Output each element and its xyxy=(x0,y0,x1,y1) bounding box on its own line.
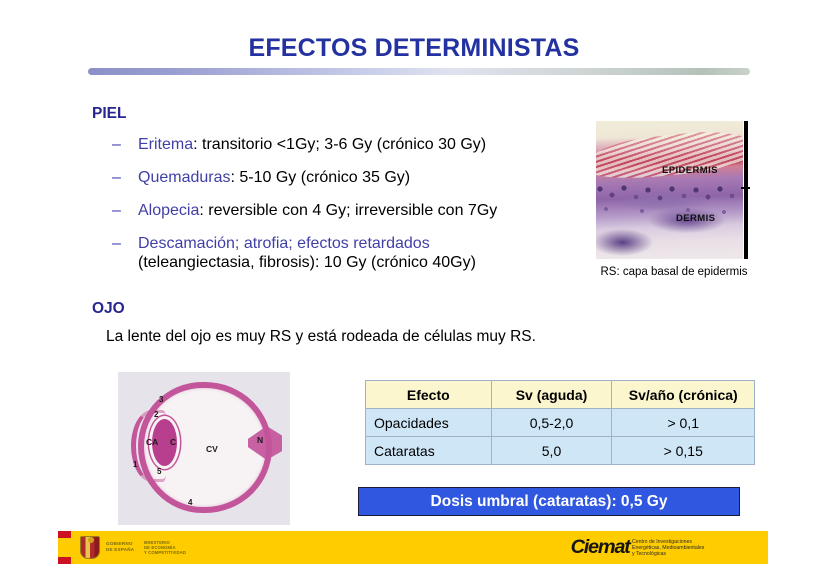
eye-callout-number-4: 4 xyxy=(188,498,192,507)
cell-efecto: Cataratas xyxy=(366,437,492,465)
cell-sv-cronica: > 0,15 xyxy=(612,437,755,465)
ministerio-label: MINISTERIO DE ECONOMÍA Y COMPETITIVIDAD xyxy=(144,540,186,556)
column-header-sv-aguda: Sv (aguda) xyxy=(491,381,612,409)
eye-callout-number-1: 1 xyxy=(133,460,137,469)
spain-flag-icon xyxy=(58,531,71,564)
threshold-dose-callout: Dosis umbral (cataratas): 0,5 Gy xyxy=(358,487,740,516)
gobierno-line-2: DE ESPAÑA xyxy=(106,547,134,553)
skin-histology-image xyxy=(596,121,743,259)
ciemat-subtitle: Centro de Investigaciones Energéticas, M… xyxy=(632,539,712,558)
skin-label-dermis: DERMIS xyxy=(676,213,715,224)
table-body: Opacidades 0,5-2,0 > 0,1 Cataratas 5,0 >… xyxy=(366,409,755,465)
eye-label-optic-nerve: N xyxy=(257,435,263,445)
table-row: Opacidades 0,5-2,0 > 0,1 xyxy=(366,409,755,437)
spain-coat-of-arms-icon xyxy=(80,536,100,559)
ciemat-logo-wordmark: Ciemat xyxy=(570,537,629,559)
table-header: Efecto Sv (aguda) Sv/año (crónica) xyxy=(366,381,755,409)
list-item: –Alopecia: reversible con 4 Gy; irrevers… xyxy=(110,201,590,220)
gobierno-de-espana-label: GOBIERNO DE ESPAÑA xyxy=(106,541,134,552)
eye-label-vitreous: CV xyxy=(206,444,218,454)
list-item: –Descamación; atrofia; efectos retardado… xyxy=(110,234,590,272)
footer-bar: GOBIERNO DE ESPAÑA MINISTERIO DE ECONOMÍ… xyxy=(58,531,768,564)
eye-effects-table: Efecto Sv (aguda) Sv/año (crónica) Opaci… xyxy=(365,380,755,465)
skin-scale-tick xyxy=(741,187,750,189)
bullet-term: Eritema xyxy=(138,136,193,153)
skin-effects-list: –Eritema: transitorio <1Gy; 3-6 Gy (crón… xyxy=(110,135,590,286)
section-heading-piel: PIEL xyxy=(92,105,126,123)
eye-callout-number-5: 5 xyxy=(157,467,161,476)
bullet-detail: (teleangiectasia, fibrosis): 10 Gy (crón… xyxy=(138,254,476,271)
skin-label-epidermis: EPIDERMIS xyxy=(662,165,718,176)
section-heading-ojo: OJO xyxy=(92,300,125,318)
eye-description-paragraph: La lente del ojo es muy RS y está rodead… xyxy=(106,328,536,346)
table-row: Cataratas 5,0 > 0,15 xyxy=(366,437,755,465)
skin-figure-caption: RS: capa basal de epidermis xyxy=(585,266,763,278)
bullet-dash-icon: – xyxy=(112,234,121,253)
bullet-term: Descamación; atrofia; efectos retardados xyxy=(138,234,590,253)
eye-label-anterior-chamber: CA xyxy=(146,437,158,447)
eye-label-lens: C xyxy=(170,437,176,447)
eye-callout-number-3: 3 xyxy=(159,395,163,404)
column-header-sv-cronica: Sv/año (crónica) xyxy=(612,381,755,409)
cell-sv-cronica: > 0,1 xyxy=(612,409,755,437)
gobierno-line-1: GOBIERNO xyxy=(106,541,134,547)
list-item: –Quemaduras: 5-10 Gy (crónico 35 Gy) xyxy=(110,168,590,187)
bullet-dash-icon: – xyxy=(112,201,121,220)
bullet-term: Alopecia xyxy=(138,202,199,219)
title-divider-rule xyxy=(88,68,750,75)
bullet-dash-icon: – xyxy=(112,168,121,187)
page-title: EFECTOS DETERMINISTAS xyxy=(0,34,828,63)
list-item: –Eritema: transitorio <1Gy; 3-6 Gy (crón… xyxy=(110,135,590,154)
skin-scale-bar xyxy=(744,121,748,259)
column-header-efecto: Efecto xyxy=(366,381,492,409)
table-header-row: Efecto Sv (aguda) Sv/año (crónica) xyxy=(366,381,755,409)
skin-histology-figure: EPIDERMIS DERMIS xyxy=(596,121,750,259)
bullet-term: Quemaduras xyxy=(138,169,231,186)
bullet-detail: : transitorio <1Gy; 3-6 Gy (crónico 30 G… xyxy=(193,136,486,153)
cell-sv-aguda: 0,5-2,0 xyxy=(491,409,612,437)
bullet-detail: : reversible con 4 Gy; irreversible con … xyxy=(199,202,497,219)
cell-efecto: Opacidades xyxy=(366,409,492,437)
eye-callout-number-2: 2 xyxy=(154,410,158,419)
eye-anatomy-figure: CA C CV N 1 2 3 4 5 xyxy=(118,372,290,525)
cell-sv-aguda: 5,0 xyxy=(491,437,612,465)
ciemat-sub-line-3: y Tecnológicas xyxy=(632,551,712,557)
bullet-detail: : 5-10 Gy (crónico 35 Gy) xyxy=(231,169,411,186)
ministerio-line-3: Y COMPETITIVIDAD xyxy=(144,550,186,555)
bullet-dash-icon: – xyxy=(112,135,121,154)
